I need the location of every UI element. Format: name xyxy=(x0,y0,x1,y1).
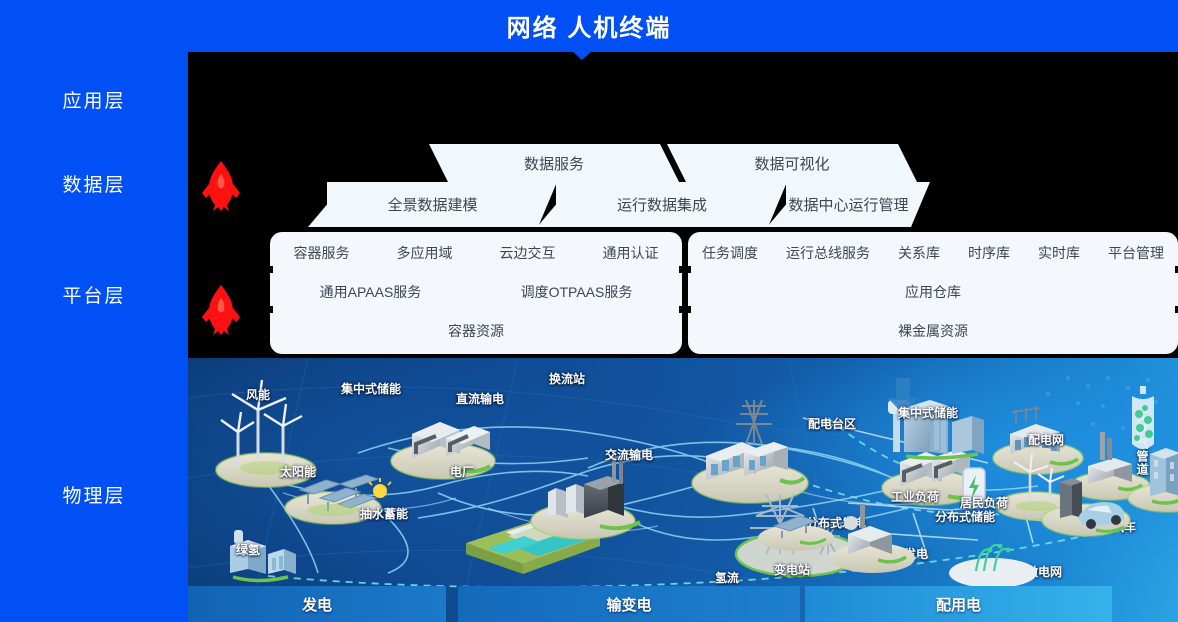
section-bar-generation[interactable]: 发电 xyxy=(188,586,446,622)
label-central-storage-2: 集中式储能 xyxy=(898,404,958,421)
panel-seam xyxy=(686,266,691,273)
physical-layer-illustration: 风能 集中式储能 直流输电 太阳能 抽水蓄能 绿氢 电厂 换流站 交流输电 变电… xyxy=(188,358,1178,622)
label-dc-transmission: 直流输电 xyxy=(456,390,504,407)
label-distributed-generation: 分布式发电 xyxy=(806,514,866,531)
platform-item-platform-mgmt[interactable]: 平台管理 xyxy=(1108,243,1164,263)
platform-item-relational-db[interactable]: 关系库 xyxy=(898,243,940,263)
section-bar-distribution[interactable]: 配用电 xyxy=(805,586,1112,622)
platform-item-multi-app-domain[interactable]: 多应用域 xyxy=(397,243,453,263)
label-green-hydrogen: 绿氢 xyxy=(236,541,260,558)
layer-label-physical: 物理层 xyxy=(0,481,188,508)
label-industrial-load: 工业负荷 xyxy=(891,488,939,505)
rocket-icon xyxy=(200,160,242,212)
layer-label-data: 数据层 xyxy=(0,170,188,197)
platform-item-task-scheduling[interactable]: 任务调度 xyxy=(702,243,758,263)
power-plant-icon xyxy=(531,454,640,539)
layer-label-platform: 平台层 xyxy=(0,281,188,308)
platform-item-container-service[interactable]: 容器服务 xyxy=(294,243,350,263)
stage-notch-icon xyxy=(572,51,592,60)
panel-seam xyxy=(268,266,273,273)
panel-seam xyxy=(686,306,691,313)
rocket-icon xyxy=(200,284,242,336)
data-chevron-data-service[interactable]: 数据服务 xyxy=(429,144,679,182)
label-distribution-area: 配电台区 xyxy=(808,415,856,432)
platform-left-row-1: 容器服务 多应用域 云边交互 通用认证 xyxy=(270,243,682,263)
label-residential-load: 居民负荷 xyxy=(960,494,1008,511)
platform-right-row-1: 任务调度 运行总线服务 关系库 时序库 实时库 平台管理 xyxy=(688,243,1178,263)
data-chevron-panoramic-modeling[interactable]: 全景数据建模 xyxy=(308,182,557,227)
platform-item-timeseries-db[interactable]: 时序库 xyxy=(968,243,1010,263)
platform-right-row-2: 应用仓库 xyxy=(688,282,1178,302)
platform-panel-right: 任务调度 运行总线服务 关系库 时序库 实时库 平台管理 应用仓库 裸金属资源 xyxy=(688,232,1178,354)
section-bar-transmission[interactable]: 输变电 xyxy=(458,586,800,622)
label-electric-vehicle: 电动汽车 xyxy=(1088,518,1136,535)
label-power-plant: 电厂 xyxy=(450,463,474,480)
panel-seam xyxy=(679,266,684,273)
platform-item-otpaas-service[interactable]: 调度OTPAAS服务 xyxy=(521,282,633,302)
platform-item-apaas-service[interactable]: 通用APAAS服务 xyxy=(320,282,422,302)
label-hydrogen-flow: 氢流 xyxy=(715,569,739,586)
data-chevron-data-visualization[interactable]: 数据可视化 xyxy=(667,144,917,182)
grid-scene xyxy=(188,358,1178,622)
label-distribution-network: 配电网 xyxy=(1028,431,1064,448)
label-substation: 变电站 xyxy=(774,561,810,578)
platform-right-row-3: 裸金属资源 xyxy=(688,321,1178,341)
platform-item-container-resource[interactable]: 容器资源 xyxy=(448,321,504,341)
label-microgrid: 微电网 xyxy=(1026,563,1062,580)
platform-item-runtime-bus[interactable]: 运行总线服务 xyxy=(786,243,870,263)
platform-item-unified-auth[interactable]: 通用认证 xyxy=(603,243,659,263)
platform-left-row-3: 容器资源 xyxy=(270,321,682,341)
data-chevron-runtime-integration[interactable]: 运行数据集成 xyxy=(537,182,787,227)
platform-item-baremetal-resource[interactable]: 裸金属资源 xyxy=(898,321,968,341)
layer-label-application: 应用层 xyxy=(0,86,188,113)
label-ac-transmission: 交流输电 xyxy=(605,446,653,463)
panel-seam xyxy=(679,306,684,313)
platform-panel-left: 容器服务 多应用域 云边交互 通用认证 通用APAAS服务 调度OTPAAS服务… xyxy=(270,232,682,354)
panel-seam xyxy=(268,306,273,313)
platform-item-realtime-db[interactable]: 实时库 xyxy=(1038,243,1080,263)
label-biomass-generation: 生物质发电 xyxy=(868,545,928,562)
label-pumped-storage: 抽水蓄能 xyxy=(360,505,408,522)
label-solar: 太阳能 xyxy=(280,463,316,480)
platform-item-cloud-edge[interactable]: 云边交互 xyxy=(500,243,556,263)
label-wind: 风能 xyxy=(246,386,270,403)
platform-item-app-repository[interactable]: 应用仓库 xyxy=(905,282,961,302)
converter-station-icon xyxy=(692,400,808,503)
data-chevron-datacenter-ops[interactable]: 数据中心运行管理 xyxy=(767,182,930,227)
platform-left-row-2: 通用APAAS服务 调度OTPAAS服务 xyxy=(270,282,682,302)
central-storage-icon xyxy=(391,422,495,479)
page-title: 网络 人机终端 xyxy=(0,8,1178,43)
label-natural-gas-pipeline: 天然气管道 xyxy=(1134,411,1151,476)
label-central-storage: 集中式储能 xyxy=(341,380,401,397)
diagram-stage: 数据服务 数据可视化 全景数据建模 运行数据集成 数据中心运行管理 容器服务 多… xyxy=(188,52,1178,358)
label-converter-station: 换流站 xyxy=(549,370,585,387)
